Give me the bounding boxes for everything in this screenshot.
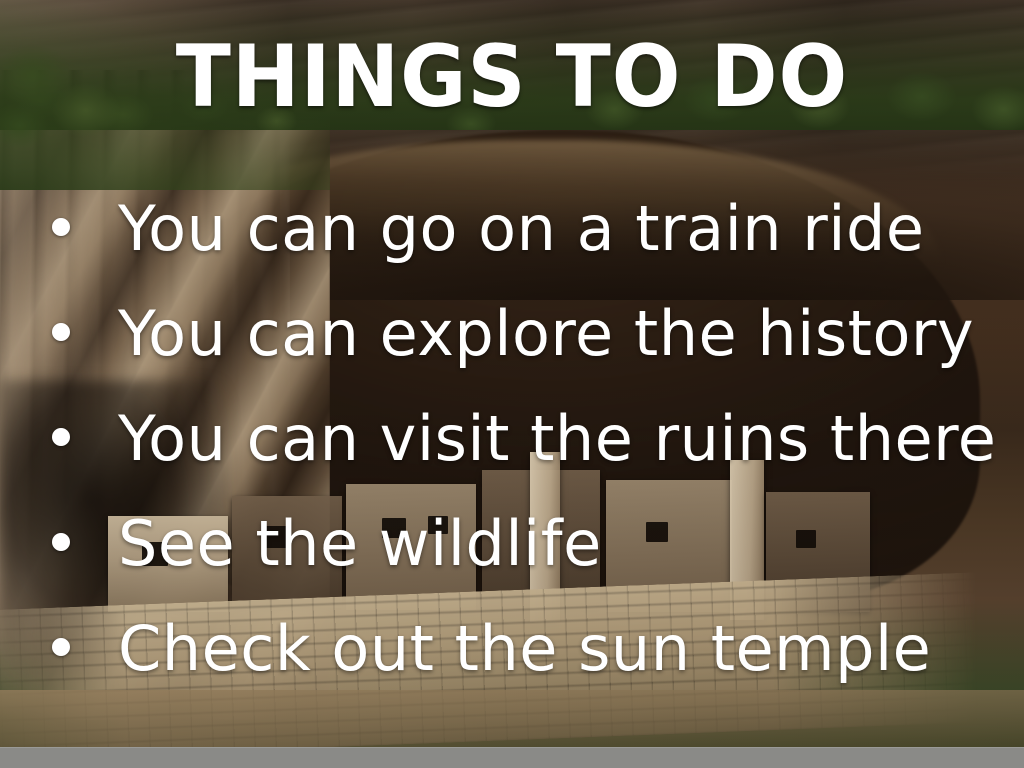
bullet-text: Check out the sun temple [118, 618, 931, 680]
bullet-text: You can visit the ruins there [118, 408, 996, 470]
bullet-text: See the wildlife [118, 513, 602, 575]
bullet-text: You can explore the history [118, 303, 974, 365]
list-item: See the wildlife [52, 513, 1002, 618]
bullet-dot-icon [52, 533, 70, 551]
bullet-text: You can go on a train ride [118, 198, 925, 260]
list-item: You can visit the ruins there [52, 408, 1002, 513]
list-item: Check out the sun temple [52, 618, 1002, 723]
bullet-dot-icon [52, 323, 70, 341]
bullet-list: You can go on a train ride You can explo… [52, 198, 1002, 723]
bottom-bar [0, 747, 1024, 768]
slide-title: THINGS TO DO [31, 34, 994, 120]
list-item: You can explore the history [52, 303, 1002, 408]
list-item: You can go on a train ride [52, 198, 1002, 303]
bullet-dot-icon [52, 428, 70, 446]
presentation-slide: THINGS TO DO You can go on a train ride … [0, 0, 1024, 768]
bullet-dot-icon [52, 218, 70, 236]
bullet-dot-icon [52, 638, 70, 656]
